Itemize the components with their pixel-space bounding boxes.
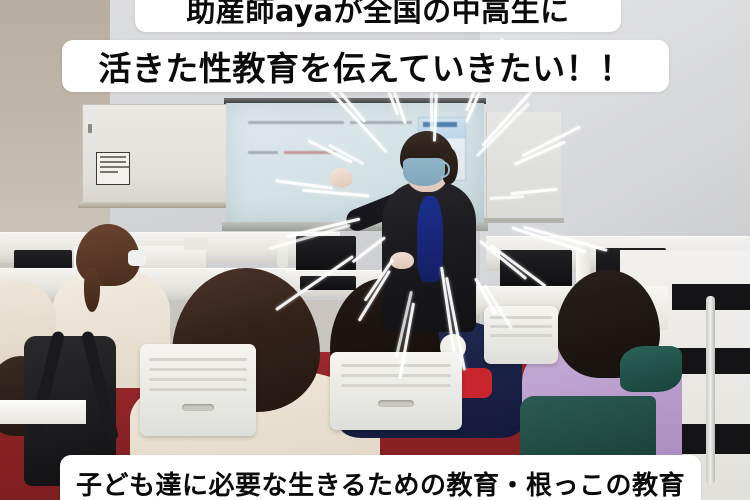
whiteboard-note bbox=[96, 152, 130, 185]
face-mask-icon bbox=[403, 158, 445, 186]
green-jacket bbox=[620, 346, 682, 392]
desk-front-left bbox=[0, 400, 86, 424]
projector-lens-housing bbox=[184, 238, 208, 250]
presenter-inner-top bbox=[417, 196, 443, 282]
whiteboard-clip bbox=[88, 124, 92, 133]
caption-top-line-1: 助産師ayaが全国の中高生に bbox=[135, 0, 621, 32]
face-mask bbox=[128, 250, 146, 266]
chair bbox=[330, 352, 462, 430]
caption-top-line-2: 活きた性教育を伝えていきたい！！ bbox=[62, 40, 669, 92]
caption-bottom: 子ども達に必要な生きるための教育・根っこの教育 bbox=[60, 455, 701, 500]
rear-whiteboard-ledge bbox=[484, 218, 564, 223]
chair bbox=[140, 344, 256, 436]
screenshot-root: 助産師ayaが全国の中高生に 活きた性教育を伝えていきたい！！ 子ども達に必要な… bbox=[0, 0, 750, 500]
ponytail bbox=[84, 268, 100, 312]
monitor bbox=[296, 236, 356, 274]
locker-rail bbox=[706, 296, 715, 484]
monitor bbox=[500, 250, 572, 290]
